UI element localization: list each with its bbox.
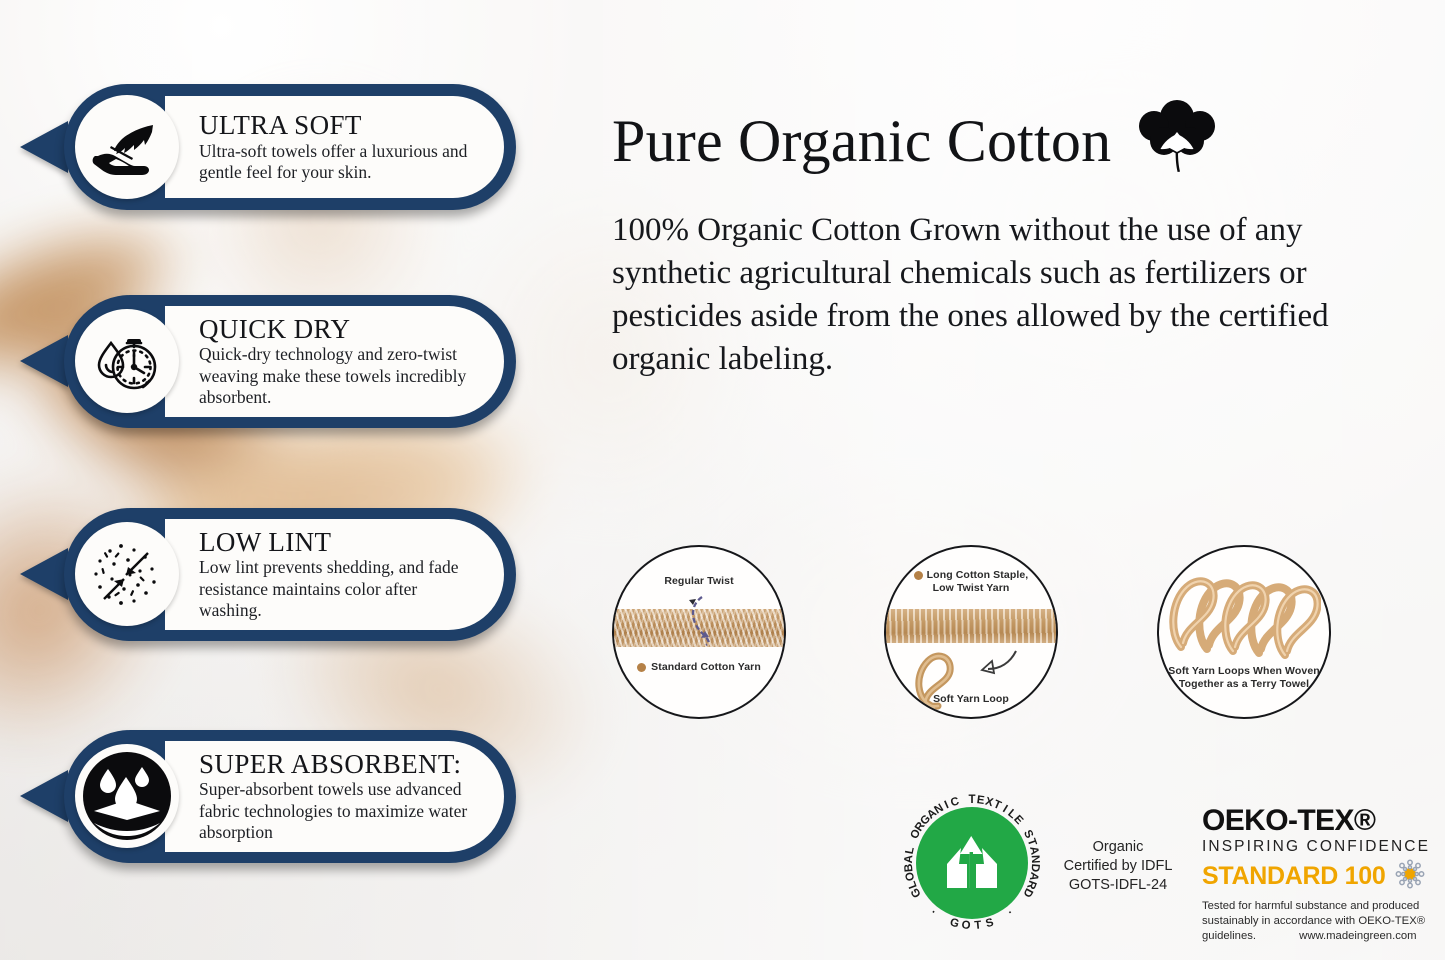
badge-tail bbox=[20, 121, 68, 173]
lint-particles-arrows-icon bbox=[75, 522, 179, 626]
yarn-diagram-low-twist: Long Cotton Staple, Low Twist Yarn Soft … bbox=[884, 545, 1058, 719]
feature-body: Super-absorbent towels use advanced fabr… bbox=[199, 779, 478, 843]
terry-loops-graphic bbox=[1167, 573, 1321, 664]
lede-paragraph: 100% Organic Cotton Grown without the us… bbox=[612, 209, 1412, 381]
yarn-top-label: Regular Twist bbox=[614, 575, 784, 588]
feature-badge-ultra-soft: ULTRA SOFT Ultra-soft towels offer a lux… bbox=[64, 84, 516, 210]
feather-on-hand-icon bbox=[75, 95, 179, 199]
oeko-tex-logo: OEKO-TEX® INSPIRING CONFIDENCE STANDARD … bbox=[1202, 806, 1445, 944]
gots-caption: Organic Certified by IDFL GOTS-IDFL-24 bbox=[1057, 838, 1179, 895]
gots-license-number: GOTS-IDFL-24 bbox=[1057, 876, 1179, 895]
gots-caption-line2: Certified by IDFL bbox=[1057, 857, 1179, 876]
yarn-diagram-regular-twist: Regular Twist Standard Cotton Yarn bbox=[612, 545, 786, 719]
feature-title: QUICK DRY bbox=[199, 315, 478, 343]
badge-tail bbox=[20, 335, 68, 387]
feature-body: Ultra-soft towels offer a luxurious and … bbox=[199, 141, 478, 183]
oeko-tex-tagline: INSPIRING CONFIDENCE bbox=[1202, 839, 1445, 855]
feature-badge-super-absorbent: SUPER ABSORBENT: Super-absorbent towels … bbox=[64, 730, 516, 863]
soft-yarn-loop-graphic bbox=[908, 649, 976, 716]
yarn-diagram-terry-loops: Soft Yarn Loops When Woven Together as a… bbox=[1157, 545, 1331, 719]
right-content-column: Pure Organic Cotton bbox=[612, 0, 1445, 960]
badge-tail bbox=[20, 770, 68, 822]
gots-caption-line1: Organic bbox=[1057, 838, 1179, 857]
gots-tshirt-icon bbox=[916, 807, 1028, 919]
yarn-bullet-dot bbox=[914, 571, 923, 580]
twist-arrow-icon bbox=[686, 591, 716, 654]
feature-body: Low lint prevents shedding, and fade res… bbox=[199, 557, 478, 621]
cotton-boll-icon bbox=[1131, 98, 1223, 183]
feature-badge-quick-dry: QUICK DRY Quick-dry technology and zero-… bbox=[64, 295, 516, 428]
feature-body: Quick-dry technology and zero-twist weav… bbox=[199, 344, 478, 408]
oeko-tex-fine-print: Tested for harmful substance and produce… bbox=[1202, 899, 1445, 944]
yarn-bottom-label: Standard Cotton Yarn bbox=[614, 661, 784, 674]
oeko-tex-standard: STANDARD 100 bbox=[1202, 864, 1385, 889]
yarn-top-label: Long Cotton Staple, Low Twist Yarn bbox=[886, 569, 1056, 595]
stopwatch-water-drop-icon bbox=[75, 309, 179, 413]
feature-title: SUPER ABSORBENT: bbox=[199, 750, 478, 778]
feature-title: ULTRA SOFT bbox=[199, 111, 478, 139]
page-title: Pure Organic Cotton bbox=[612, 111, 1111, 171]
yarn-diagram-group: Regular Twist Standard Cotton Yarn Long … bbox=[612, 545, 1445, 725]
loop-pointer-arrow-icon bbox=[978, 647, 1020, 684]
yarn-bottom-label: Soft Yarn Loop bbox=[886, 693, 1056, 706]
feature-badge-low-lint: LOW LINT Low lint prevents shedding, and… bbox=[64, 508, 516, 641]
feature-badge-list: ULTRA SOFT Ultra-soft towels offer a lux… bbox=[0, 0, 590, 960]
water-drops-fabric-icon bbox=[75, 744, 179, 848]
yarn-bottom-label: Soft Yarn Loops When Woven Together as a… bbox=[1159, 665, 1329, 691]
made-in-green-flower-icon bbox=[1395, 859, 1425, 894]
gots-logo: GLOBALORGANICTEXTILESTANDARD·GOTS· bbox=[897, 788, 1047, 938]
oeko-tex-brand: OEKO-TEX® bbox=[1202, 806, 1445, 836]
feature-title: LOW LINT bbox=[199, 528, 478, 556]
yarn-bullet-dot bbox=[637, 663, 646, 672]
headline-row: Pure Organic Cotton bbox=[612, 98, 1445, 183]
badge-tail bbox=[20, 548, 68, 600]
oeko-tex-url: www.madeingreen.com bbox=[1299, 930, 1416, 942]
certification-row: GLOBALORGANICTEXTILESTANDARD·GOTS· Organ… bbox=[897, 788, 1445, 953]
